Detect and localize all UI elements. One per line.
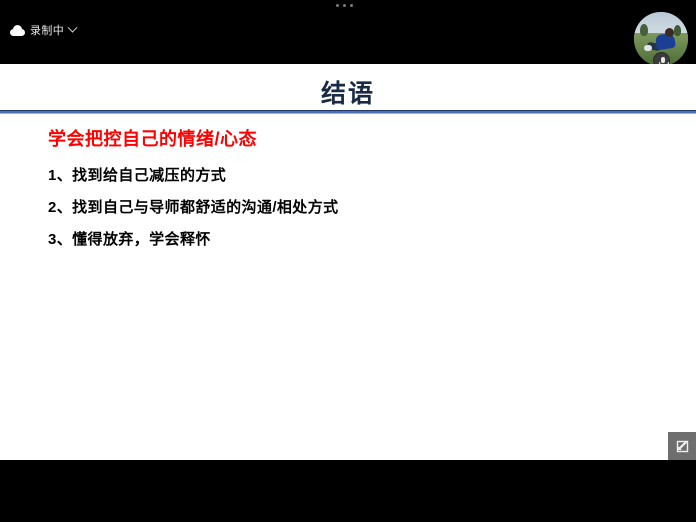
- drag-dot: [343, 4, 346, 7]
- shared-screen-slide[interactable]: 结语 学会把控自己的情绪/心态 1、找到给自己减压的方式 2、找到自己与导师都舒…: [0, 64, 696, 460]
- avatar-shoe: [644, 45, 652, 51]
- slide-bullet: 1、找到给自己减压的方式: [48, 164, 226, 185]
- meeting-window: 录制中 LJY的屏幕共享 结语 学会把控自己的情绪/心态 1、找到给自己减压的方…: [0, 0, 696, 522]
- title-divider: [0, 110, 696, 114]
- slide-bullet: 3、懂得放弃，学会释怀: [48, 228, 211, 249]
- bottom-bar: LJY的屏幕共享: [0, 460, 696, 522]
- avatar-head: [665, 28, 674, 37]
- avatar-tree: [674, 25, 681, 36]
- top-bar: 录制中 LJY的屏幕共享: [0, 0, 696, 64]
- slide-title: 结语: [0, 74, 696, 110]
- participant-tile[interactable]: LJY的屏幕共享: [634, 12, 688, 66]
- chevron-down-icon[interactable]: [68, 22, 78, 32]
- window-drag-handle[interactable]: [336, 4, 353, 7]
- recording-status-chip[interactable]: 录制中: [10, 22, 76, 38]
- slide-bullet: 2、找到自己与导师都舒适的沟通/相处方式: [48, 196, 339, 217]
- drag-dot: [350, 4, 353, 7]
- expand-arrow-icon[interactable]: [668, 432, 696, 460]
- avatar-tree: [640, 24, 648, 36]
- recording-status-label: 录制中: [30, 22, 64, 38]
- drag-dot: [336, 4, 339, 7]
- slide-heading: 学会把控自己的情绪/心态: [48, 125, 257, 151]
- cloud-icon: [10, 25, 25, 36]
